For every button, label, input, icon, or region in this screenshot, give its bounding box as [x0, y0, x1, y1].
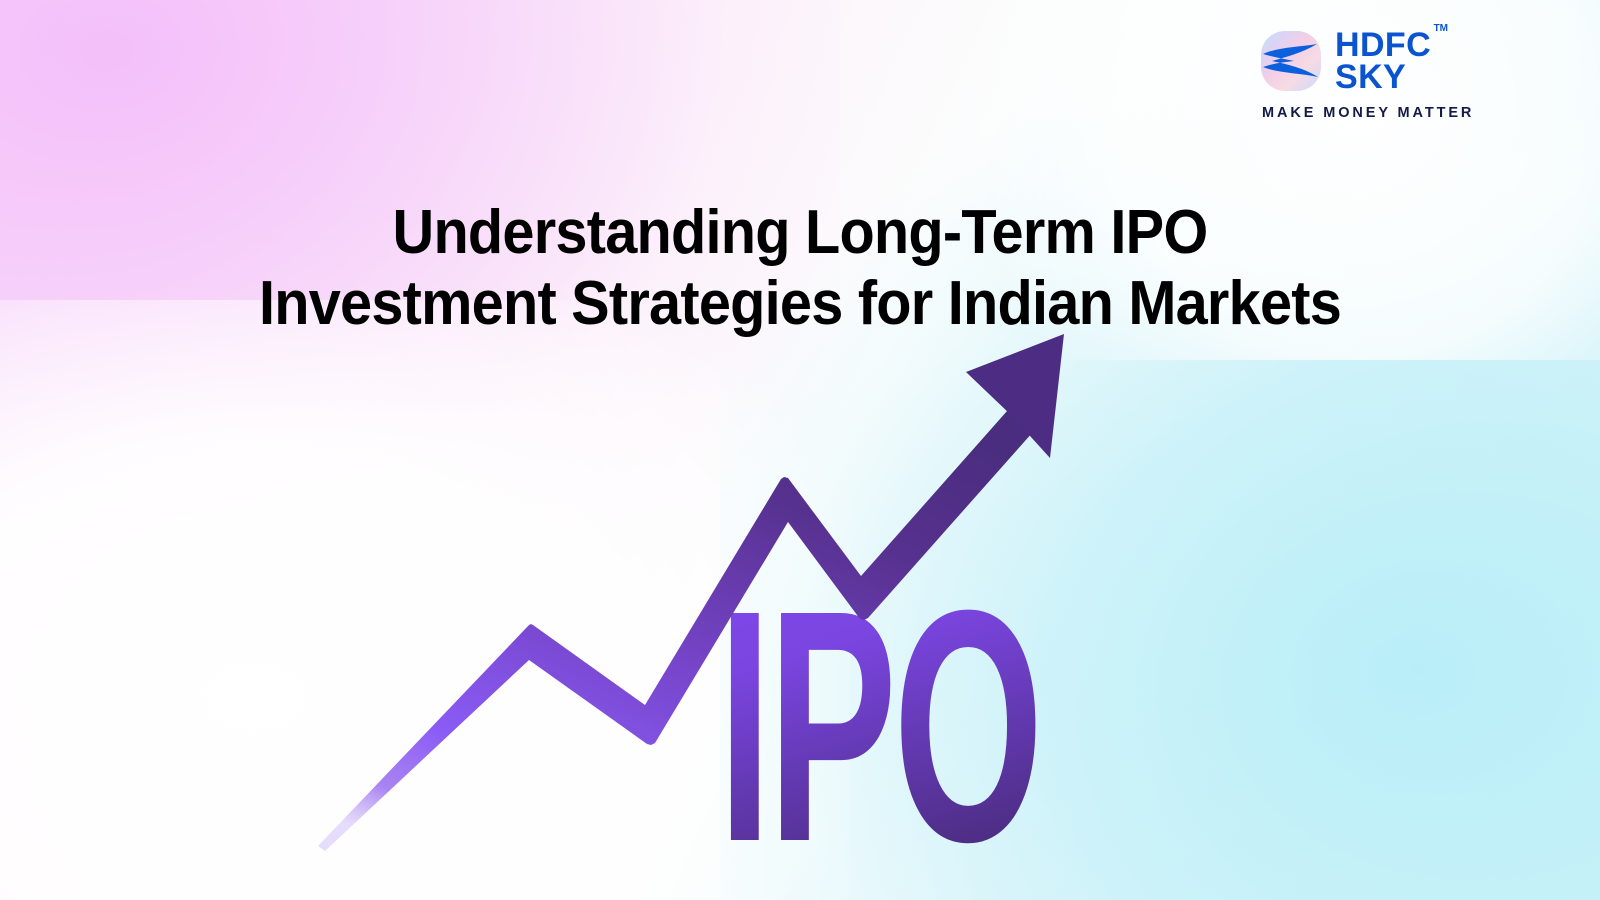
page-title: Understanding Long-Term IPO Investment S… [56, 197, 1544, 341]
logo-row: HDFC SKY TM [1260, 28, 1490, 94]
page-title-line-2: Investment Strategies for Indian Markets [56, 268, 1544, 340]
logo-wordmark: HDFC SKY TM [1335, 29, 1431, 94]
trademark-icon: TM [1434, 24, 1448, 33]
logo-word-hdfc: HDFC [1335, 30, 1431, 62]
page-title-line-1: Understanding Long-Term IPO [56, 197, 1544, 269]
hdfc-sky-swoosh-mark-icon [1260, 30, 1322, 92]
ipo-banner: IPO Understanding Long-Term IPO Investme… [0, 0, 1600, 900]
logo-tagline: MAKE MONEY MATTER [1260, 105, 1490, 121]
hdfc-sky-logo[interactable]: HDFC SKY TM MAKE MONEY MATTER [1260, 28, 1490, 121]
logo-word-sky: SKY [1335, 62, 1431, 94]
